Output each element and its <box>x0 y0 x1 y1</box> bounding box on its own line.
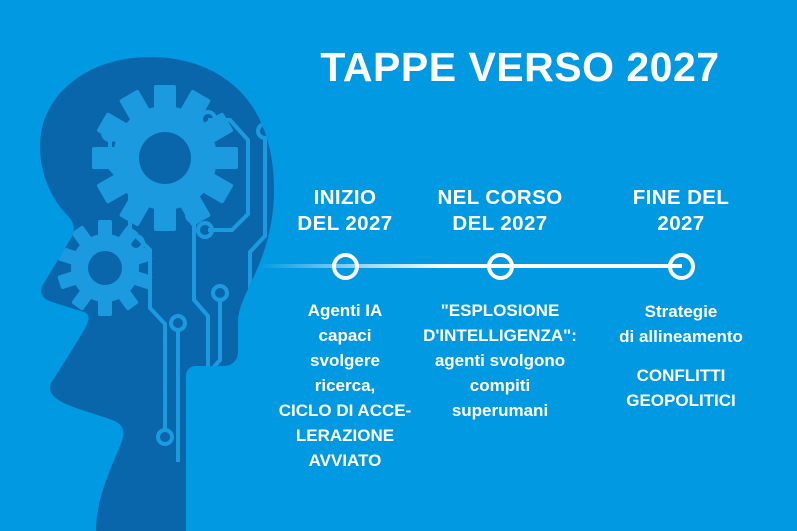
milestone-heading-nel-corso-2027: NEL CORSO DEL 2027 <box>416 185 584 237</box>
milestone-1-body-line-2: capaci <box>261 324 429 349</box>
milestone-3-emphasis-line-2: GEOPOLITICI <box>597 389 765 414</box>
milestone-3-body-line-2: di allineamento <box>597 325 765 350</box>
milestone-heading-fine-2027: FINE DEL 2027 <box>597 185 765 237</box>
timeline-node-2[interactable] <box>487 253 514 280</box>
milestone-3-body-line-1: Strategie <box>597 300 765 325</box>
milestone-1-body-line-3: svolgere <box>261 349 429 374</box>
milestone-2-body-line-2: D'INTELLIGENZA": <box>416 324 584 349</box>
milestone-1-heading-line-1: INIZIO <box>261 185 429 211</box>
milestone-1-heading-line-2: DEL 2027 <box>261 211 429 237</box>
milestone-3-heading-line-1: FINE DEL <box>597 185 765 211</box>
milestone-2-heading-line-2: DEL 2027 <box>416 211 584 237</box>
infographic-canvas: TAPPE VERSO 2027 INIZIO DEL 2027 NEL COR… <box>0 0 797 531</box>
milestone-2-heading-line-1: NEL CORSO <box>416 185 584 211</box>
milestone-2-body-line-3: agenti svolgono <box>416 349 584 374</box>
milestone-3-emphasis-line-1: CONFLITTI <box>597 364 765 389</box>
milestone-1-emphasis-line-2: LERAZIONE <box>261 424 429 449</box>
timeline-node-1[interactable] <box>332 253 359 280</box>
milestone-1-body-line-4: ricerca, <box>261 374 429 399</box>
milestone-1-emphasis-line-3: AVVIATO <box>261 449 429 474</box>
milestone-2-body-line-5: superumani <box>416 399 584 424</box>
milestone-body-inizio-2027: Agenti IA capaci svolgere ricerca, CICLO… <box>261 299 429 474</box>
milestone-2-body-line-1: "ESPLOSIONE <box>416 299 584 324</box>
milestone-1-body-line-1: Agenti IA <box>261 299 429 324</box>
milestone-body-fine-2027: Strategie di allineamento CONFLITTI GEOP… <box>597 300 765 414</box>
timeline-node-3[interactable] <box>668 253 695 280</box>
milestone-2-body-line-4: compiti <box>416 374 584 399</box>
timeline-milestones: INIZIO DEL 2027 NEL CORSO DEL 2027 FINE … <box>0 0 797 531</box>
milestone-heading-inizio-2027: INIZIO DEL 2027 <box>261 185 429 237</box>
milestone-body-nel-corso-2027: "ESPLOSIONE D'INTELLIGENZA": agenti svol… <box>416 299 584 424</box>
milestone-3-heading-line-2: 2027 <box>597 211 765 237</box>
milestone-1-emphasis-line-1: CICLO DI ACCE- <box>261 399 429 424</box>
